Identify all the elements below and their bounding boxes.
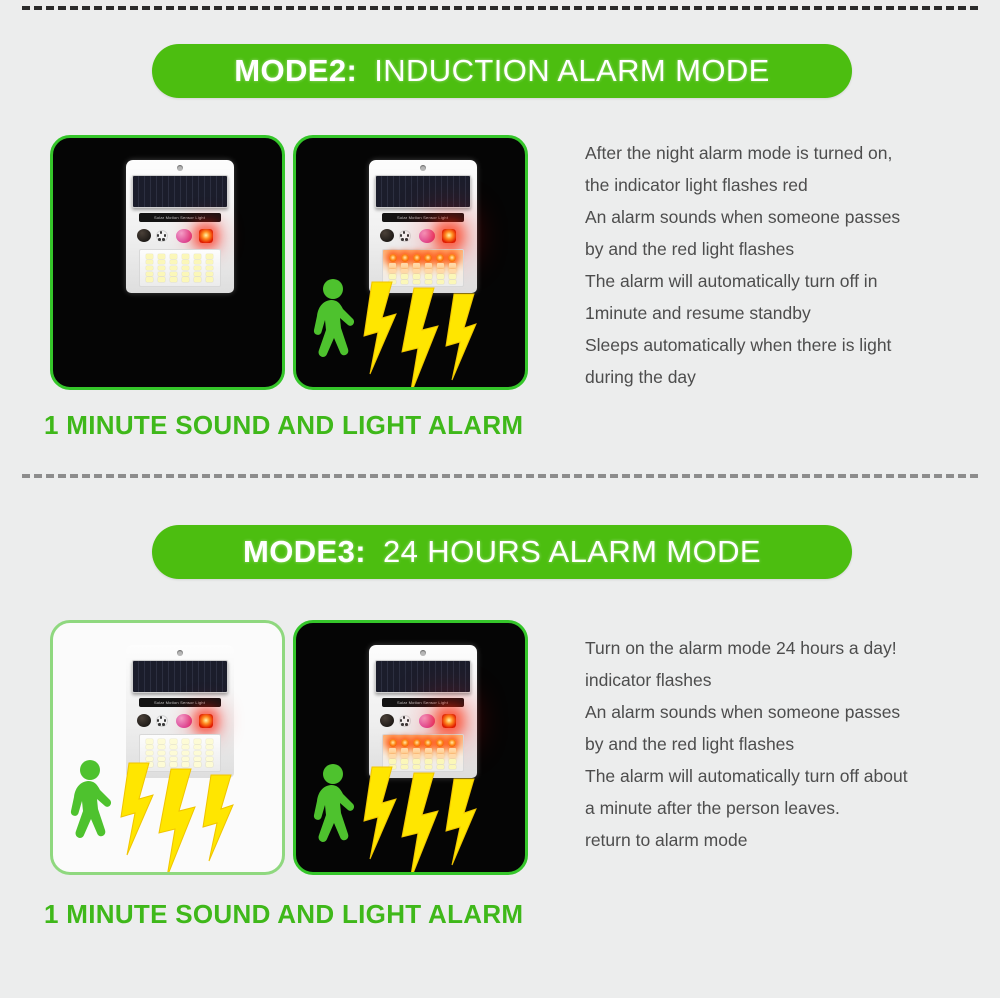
red-indicator-light: [199, 229, 213, 243]
mode2-image-standby: Solar Motion Sensor Light: [50, 135, 285, 390]
mode3-banner: MODE3: 24 HOURS ALARM MODE: [152, 525, 852, 579]
divider-middle: [22, 474, 978, 478]
solar-lamp-device: Solar Motion Sensor Light: [369, 645, 477, 778]
desc-line: a minute after the person leaves.: [585, 792, 985, 824]
desc-line: Turn on the alarm mode 24 hours a day!: [585, 632, 985, 664]
speaker-icon: [137, 714, 151, 727]
alarm-lightning-bolts-icon: [115, 759, 235, 875]
mode-button: [176, 714, 192, 728]
desc-line: An alarm sounds when someone passes: [585, 201, 985, 233]
device-label: Solar Motion Sensor Light: [139, 698, 221, 707]
desc-line: by and the red light flashes: [585, 233, 985, 265]
mode3-image-alarm: Solar Motion Sensor Light: [293, 620, 528, 875]
red-indicator-light: [442, 714, 456, 728]
walking-person-icon: [304, 278, 364, 370]
device-label: Solar Motion Sensor Light: [139, 213, 221, 222]
solar-lamp-device: Solar Motion Sensor Light: [369, 160, 477, 293]
speaker-icon: [380, 714, 394, 727]
mode3-caption: 1 MINUTE SOUND AND LIGHT ALARM: [44, 899, 523, 930]
red-indicator-light: [199, 714, 213, 728]
mount-screw-icon: [177, 650, 183, 656]
product-infographic-page: MODE2: INDUCTION ALARM MODE Solar Motion…: [0, 0, 1000, 998]
desc-line: The alarm will automatically turn off in: [585, 265, 985, 297]
desc-line: the indicator light flashes red: [585, 169, 985, 201]
mode2-image-alarm: Solar Motion Sensor Light: [293, 135, 528, 390]
mount-screw-icon: [420, 165, 426, 171]
speaker-icon: [137, 229, 151, 242]
mode-button: [419, 714, 435, 728]
desc-line: An alarm sounds when someone passes: [585, 696, 985, 728]
divider-top: [22, 6, 978, 10]
solar-panel: [132, 660, 228, 693]
mode2-description: After the night alarm mode is turned on,…: [585, 137, 985, 393]
device-label: Solar Motion Sensor Light: [382, 213, 464, 222]
solar-lamp-device: Solar Motion Sensor Light: [126, 160, 234, 293]
device-label: Solar Motion Sensor Light: [382, 698, 464, 707]
red-indicator-light: [442, 229, 456, 243]
mode2-title: INDUCTION ALARM MODE: [374, 53, 770, 88]
solar-panel: [375, 660, 471, 693]
mode3-title: 24 HOURS ALARM MODE: [383, 534, 761, 569]
mode3-key: MODE3:: [243, 534, 366, 569]
mode2-banner: MODE2: INDUCTION ALARM MODE: [152, 44, 852, 98]
mode2-key: MODE2:: [234, 53, 357, 88]
desc-line: Sleeps automatically when there is light: [585, 329, 985, 361]
mode3-banner-text: MODE3: 24 HOURS ALARM MODE: [243, 534, 761, 570]
desc-line: indicator flashes: [585, 664, 985, 696]
desc-line: during the day: [585, 361, 985, 393]
mode2-banner-text: MODE2: INDUCTION ALARM MODE: [234, 53, 770, 89]
motion-sensor-icon: [156, 715, 168, 727]
solar-panel: [375, 175, 471, 208]
walking-person-icon: [304, 763, 364, 855]
desc-line: return to alarm mode: [585, 824, 985, 856]
device-controls: [135, 226, 227, 246]
led-array: [139, 249, 221, 287]
alarm-lightning-bolts-icon: [358, 763, 478, 875]
alarm-lightning-bolts-icon: [358, 278, 478, 390]
desc-line: After the night alarm mode is turned on,: [585, 137, 985, 169]
desc-line: by and the red light flashes: [585, 728, 985, 760]
mode-button: [176, 229, 192, 243]
mode-button: [419, 229, 435, 243]
mode3-description: Turn on the alarm mode 24 hours a day! i…: [585, 632, 985, 856]
mode3-image-daytime: Solar Motion Sensor Light: [50, 620, 285, 875]
device-controls: [135, 711, 227, 731]
motion-sensor-icon: [156, 230, 168, 242]
mount-screw-icon: [177, 165, 183, 171]
mode2-caption: 1 MINUTE SOUND AND LIGHT ALARM: [44, 410, 523, 441]
speaker-icon: [380, 229, 394, 242]
device-controls: [378, 226, 470, 246]
desc-line: The alarm will automatically turn off ab…: [585, 760, 985, 792]
desc-line: 1minute and resume standby: [585, 297, 985, 329]
solar-panel: [132, 175, 228, 208]
walking-person-icon: [61, 759, 121, 851]
motion-sensor-icon: [399, 715, 411, 727]
mount-screw-icon: [420, 650, 426, 656]
motion-sensor-icon: [399, 230, 411, 242]
device-controls: [378, 711, 470, 731]
